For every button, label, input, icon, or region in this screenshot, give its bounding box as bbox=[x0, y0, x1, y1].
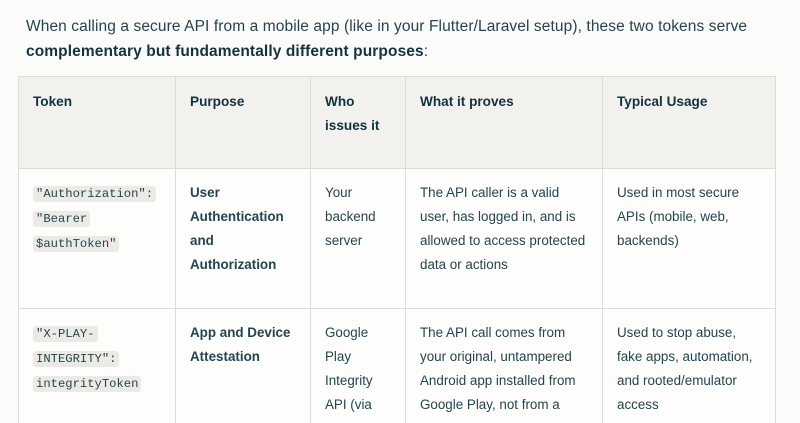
intro-paragraph: When calling a secure API from a mobile … bbox=[0, 0, 800, 64]
document-page: When calling a secure API from a mobile … bbox=[0, 0, 800, 423]
cell-usage: Used to stop abuse, fake apps, automatio… bbox=[603, 309, 776, 423]
intro-text-after: : bbox=[424, 43, 428, 60]
cell-usage: Used in most secure APIs (mobile, web, b… bbox=[603, 169, 776, 309]
table-header-row: Token Purpose Who issues it What it prov… bbox=[19, 77, 776, 169]
intro-text-before: When calling a secure API from a mobile … bbox=[26, 18, 747, 35]
table-header: Token Purpose Who issues it What it prov… bbox=[19, 77, 776, 169]
cell-token: "Authorization": "Bearer $authToken" bbox=[19, 169, 176, 309]
cell-token: "X-PLAY-INTEGRITY": integrityToken bbox=[19, 309, 176, 423]
cell-issuer: Your backend server bbox=[311, 169, 406, 309]
cell-purpose: App and Device Attestation bbox=[176, 309, 311, 423]
token-comparison-table: Token Purpose Who issues it What it prov… bbox=[18, 76, 776, 423]
cell-purpose: User Authentication and Authorization bbox=[176, 169, 311, 309]
cell-proves: The API caller is a valid user, has logg… bbox=[406, 169, 603, 309]
intro-emphasis: complementary but fundamentally differen… bbox=[26, 43, 424, 60]
table-body: "Authorization": "Bearer $authToken" Use… bbox=[19, 169, 776, 423]
play-integrity-token-code: "X-PLAY-INTEGRITY": integrityToken bbox=[33, 326, 141, 392]
column-header-purpose: Purpose bbox=[176, 77, 311, 169]
table-row: "X-PLAY-INTEGRITY": integrityToken App a… bbox=[19, 309, 776, 423]
column-header-what-it-proves: What it proves bbox=[406, 77, 603, 169]
comparison-table-container: Token Purpose Who issues it What it prov… bbox=[18, 76, 775, 423]
column-header-token: Token bbox=[19, 77, 176, 169]
cell-issuer: Google Play Integrity API (via device) bbox=[311, 309, 406, 423]
authorization-token-code: "Authorization": "Bearer $authToken" bbox=[33, 186, 156, 252]
table-row: "Authorization": "Bearer $authToken" Use… bbox=[19, 169, 776, 309]
cell-proves: The API call comes from your original, u… bbox=[406, 309, 603, 423]
column-header-typical-usage: Typical Usage bbox=[603, 77, 776, 169]
column-header-who-issues-it: Who issues it bbox=[311, 77, 406, 169]
